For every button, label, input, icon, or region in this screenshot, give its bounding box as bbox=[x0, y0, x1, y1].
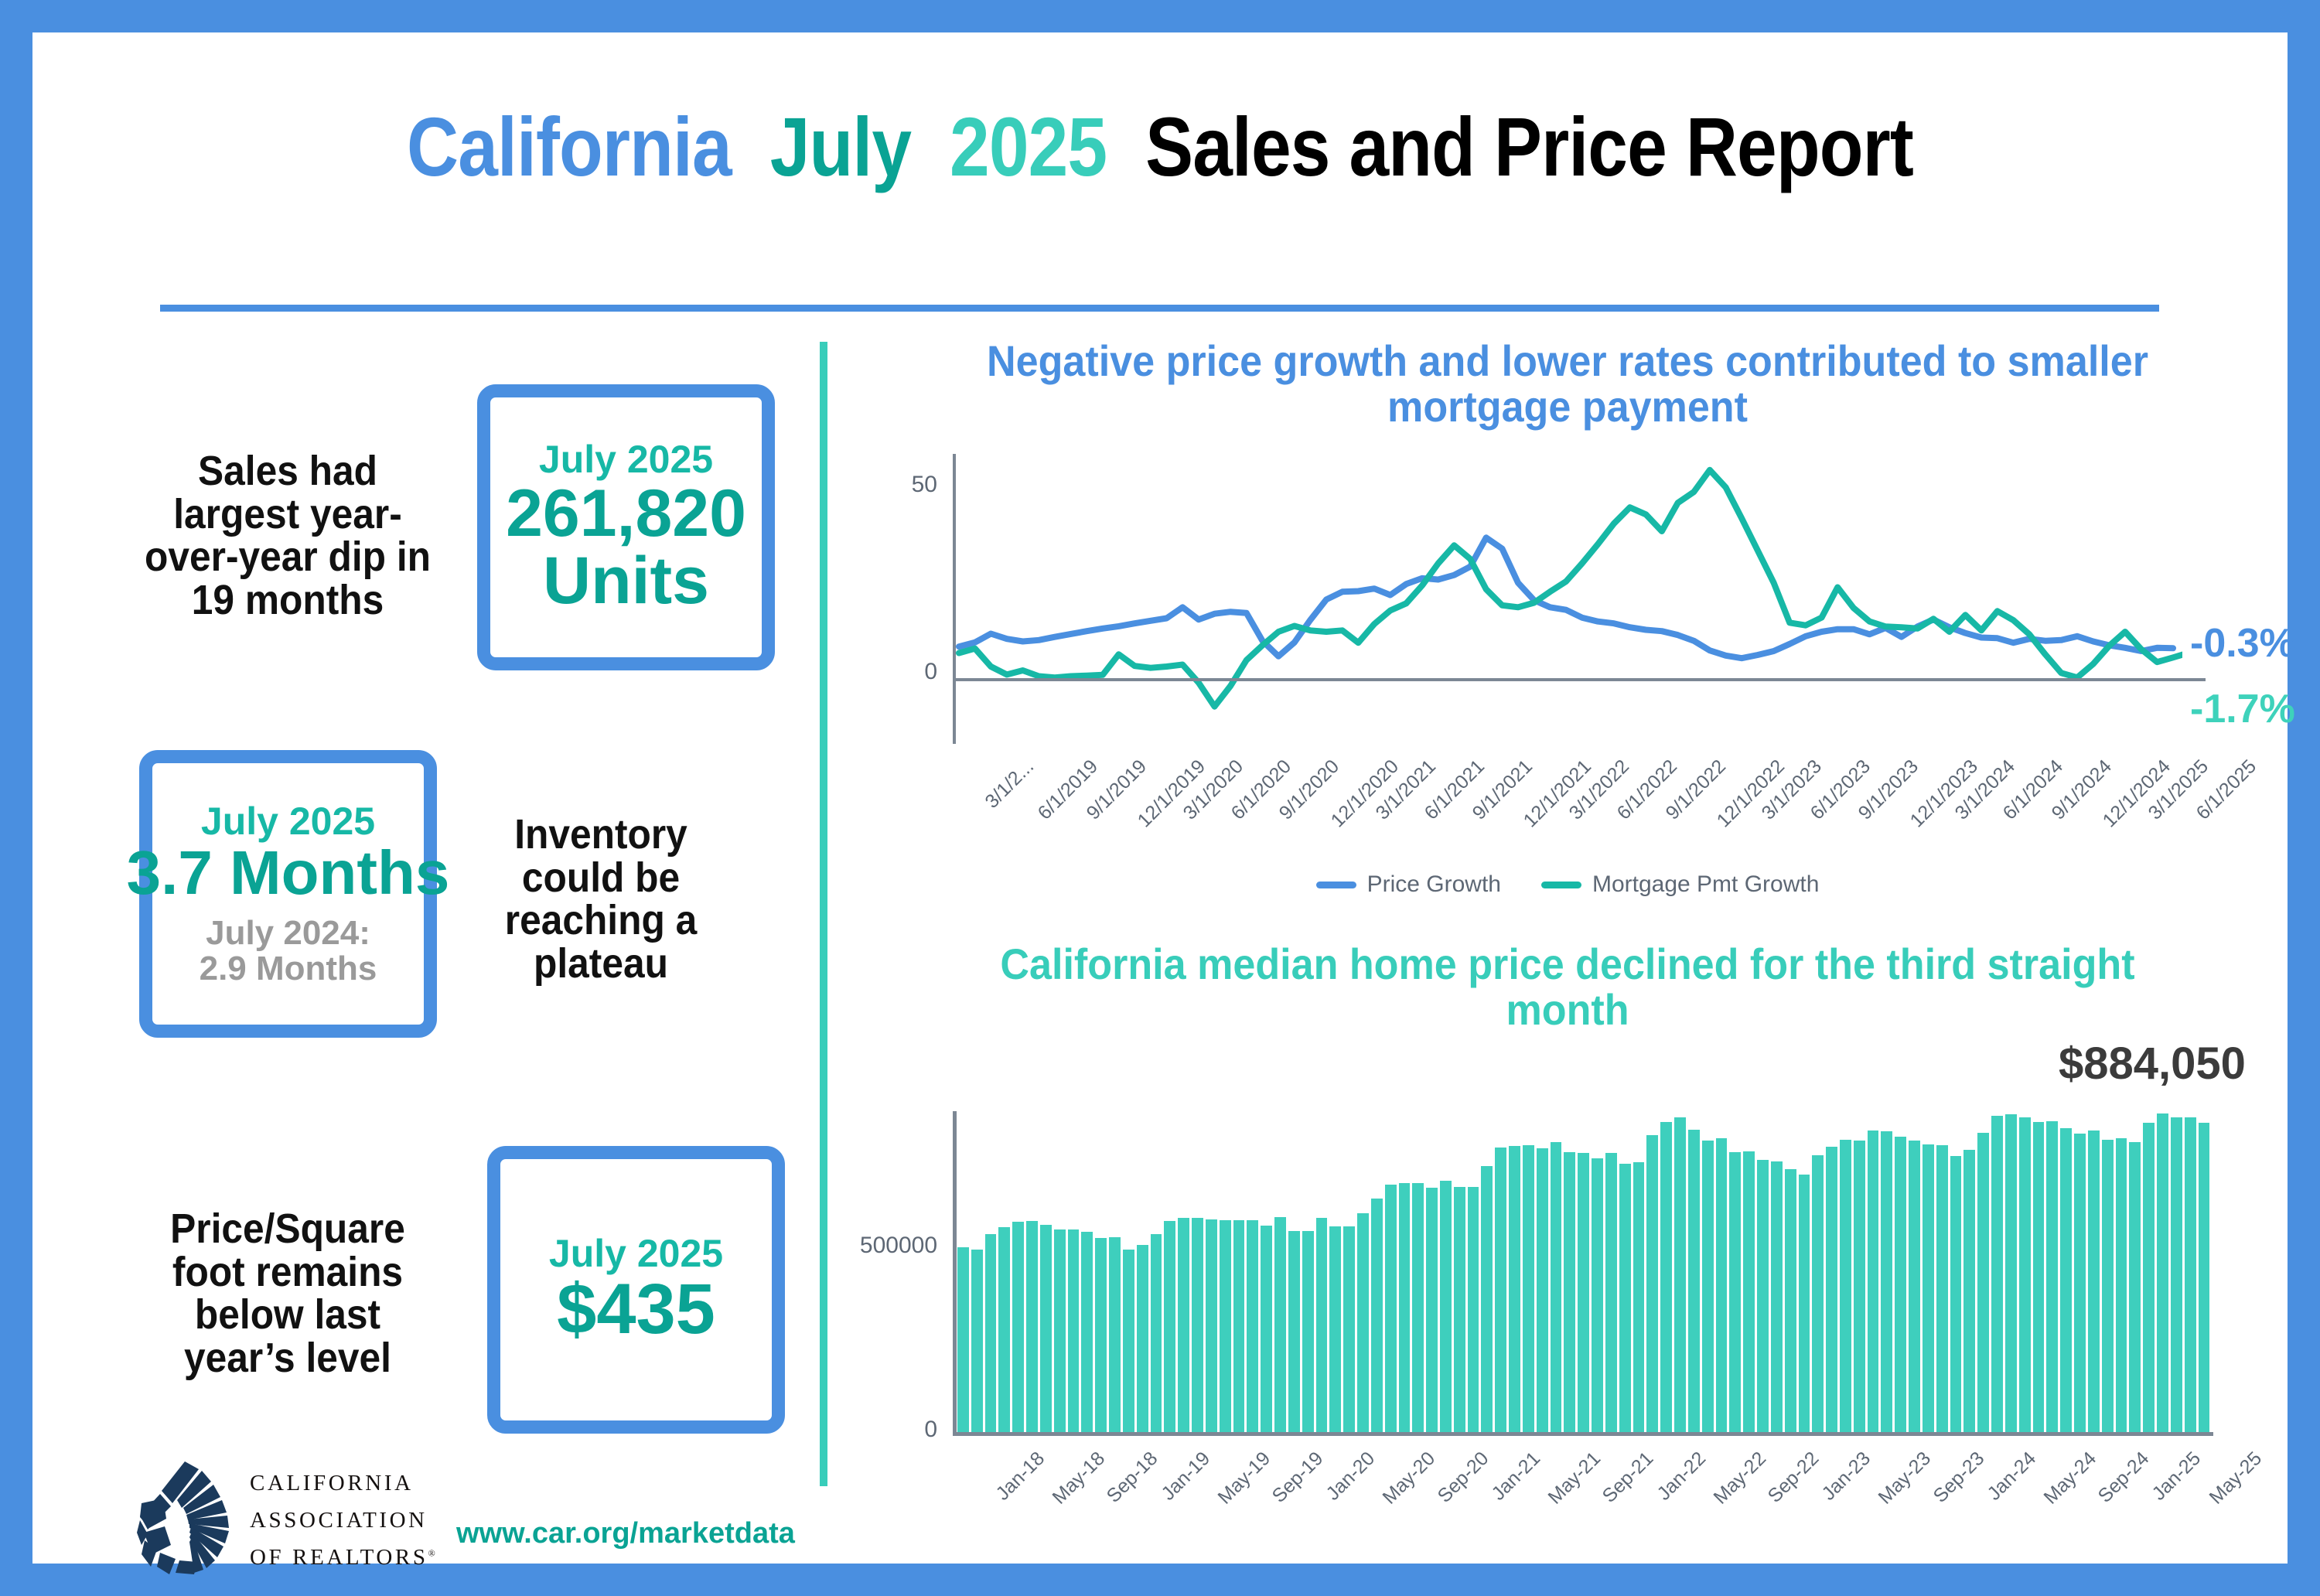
bar-xtick: Sep-24 bbox=[2094, 1448, 2155, 1508]
bar bbox=[1206, 1219, 1217, 1432]
bar bbox=[1633, 1162, 1645, 1432]
bar bbox=[2116, 1138, 2127, 1432]
note-price-per-sqft: Price/Square foot remains below last yea… bbox=[138, 1208, 437, 1379]
bar bbox=[2033, 1122, 2045, 1432]
stat-card-inventory-value: 3.7 Months bbox=[127, 841, 450, 905]
bar-xtick: Jan-25 bbox=[2148, 1448, 2206, 1506]
bar-xtick: May-18 bbox=[1049, 1448, 1110, 1509]
bar bbox=[1426, 1188, 1438, 1432]
note-inventory: Inventory could be reaching a plateau bbox=[462, 813, 740, 985]
bar bbox=[2129, 1142, 2141, 1432]
stat-card-inventory: July 2025 3.7 Months July 2024: 2.9 Mont… bbox=[139, 750, 437, 1038]
bar bbox=[1068, 1229, 1080, 1432]
bar bbox=[1578, 1153, 1589, 1432]
legend-label-price-growth: Price Growth bbox=[1367, 871, 1501, 898]
note-sales: Sales had largest year-over-year dip in … bbox=[138, 450, 437, 622]
bar bbox=[1881, 1131, 1892, 1432]
bar bbox=[2199, 1123, 2210, 1432]
line-chart-zero-line bbox=[953, 678, 2206, 681]
line-ytick-50: 50 bbox=[868, 472, 937, 498]
bar-xtick: May-19 bbox=[1213, 1448, 1274, 1509]
bar bbox=[2046, 1121, 2058, 1432]
car-logo-text: CALIFORNIA ASSOCIATION OF REALTORS® bbox=[250, 1465, 435, 1576]
bar bbox=[1247, 1220, 1258, 1432]
stat-card-price-sqft: July 2025 $435 bbox=[487, 1146, 785, 1434]
bar bbox=[1399, 1183, 1411, 1432]
legend-item-price-growth: Price Growth bbox=[1316, 871, 1501, 898]
bar bbox=[1081, 1232, 1093, 1432]
bar bbox=[1523, 1145, 1534, 1432]
bar-xtick: Sep-21 bbox=[1598, 1448, 1659, 1508]
stat-card-inventory-prior-value: 2.9 Months bbox=[200, 951, 377, 987]
bar-xtick: May-25 bbox=[2205, 1448, 2266, 1509]
bar-xtick: Sep-19 bbox=[1268, 1448, 1329, 1508]
bar bbox=[1385, 1185, 1397, 1432]
legend-swatch-price-growth bbox=[1316, 882, 1356, 888]
bar bbox=[1192, 1218, 1203, 1432]
legend-swatch-mortgage-growth bbox=[1541, 882, 1581, 888]
title-california: California bbox=[407, 100, 732, 193]
bar bbox=[1288, 1231, 1300, 1432]
stat-card-price-sqft-period: July 2025 bbox=[549, 1233, 723, 1274]
bar-xtick: Sep-20 bbox=[1433, 1448, 1493, 1508]
bar bbox=[2060, 1128, 2072, 1432]
line-endlabel-mortgage-growth: -1.7% bbox=[2190, 686, 2295, 732]
bar-xtick: Jan-21 bbox=[1487, 1448, 1545, 1506]
bar-ytick-0: 0 bbox=[852, 1417, 937, 1443]
bar bbox=[1688, 1130, 1700, 1432]
bar-xtick: May-21 bbox=[1544, 1448, 1605, 1509]
title-divider bbox=[160, 305, 2159, 312]
bar bbox=[1812, 1155, 1824, 1432]
bar bbox=[2005, 1114, 2017, 1432]
stat-card-sales-period: July 2025 bbox=[539, 439, 713, 480]
stat-card-inventory-prior-label: July 2024: bbox=[206, 916, 370, 951]
bar bbox=[2088, 1130, 2100, 1432]
bar-xtick: Jan-24 bbox=[1983, 1448, 2041, 1506]
bar bbox=[2185, 1117, 2196, 1432]
bar bbox=[1702, 1141, 1714, 1432]
bar-xtick: Jan-20 bbox=[1322, 1448, 1380, 1506]
poster-frame: California July 2025 Sales and Price Rep… bbox=[32, 32, 2288, 1564]
bar bbox=[1468, 1187, 1479, 1432]
bar-chart-yaxis-line bbox=[953, 1111, 957, 1436]
page-title: California July 2025 Sales and Price Rep… bbox=[190, 98, 2130, 195]
bar bbox=[1481, 1166, 1493, 1432]
bar bbox=[1660, 1122, 1672, 1432]
bar bbox=[1895, 1137, 1906, 1432]
line-chart-plot bbox=[953, 454, 2182, 744]
stat-card-inventory-period: July 2025 bbox=[201, 801, 375, 842]
bar bbox=[1343, 1226, 1355, 1432]
bar bbox=[2157, 1113, 2168, 1432]
bar bbox=[1012, 1222, 1024, 1432]
car-logo-line-1: CALIFORNIA bbox=[250, 1465, 435, 1502]
bar-xtick: Sep-23 bbox=[1929, 1448, 1989, 1508]
stat-card-sales-unit: Units bbox=[543, 547, 709, 616]
california-fan-icon bbox=[137, 1458, 237, 1574]
stat-card-sales: July 2025 261,820 Units bbox=[477, 384, 775, 670]
bar bbox=[1757, 1160, 1769, 1432]
stat-card-sales-value: 261,820 bbox=[506, 480, 746, 548]
bar bbox=[1220, 1220, 1231, 1432]
bar bbox=[2171, 1117, 2182, 1432]
line-endlabel-price-growth: -0.3% bbox=[2190, 620, 2295, 667]
bar bbox=[957, 1247, 969, 1432]
bar-chart-xaxis-line bbox=[953, 1432, 2213, 1436]
bar-xtick: May-23 bbox=[1875, 1448, 1936, 1509]
bar bbox=[1274, 1217, 1286, 1432]
bar bbox=[1261, 1226, 1272, 1432]
line-xtick: 3/1/2... bbox=[981, 755, 1039, 813]
bar bbox=[1592, 1158, 1603, 1432]
bar bbox=[1316, 1218, 1328, 1432]
title-subject: Sales and Price Report bbox=[1145, 100, 1913, 193]
bar bbox=[1909, 1141, 1920, 1432]
bar bbox=[1109, 1237, 1121, 1432]
bar bbox=[1302, 1231, 1314, 1432]
bar bbox=[1054, 1229, 1066, 1432]
bar bbox=[1950, 1156, 1962, 1432]
bar bbox=[1771, 1161, 1783, 1432]
car-url-link[interactable]: www.car.org/marketdata bbox=[456, 1517, 795, 1550]
line-ytick-0: 0 bbox=[868, 659, 937, 685]
bar bbox=[1178, 1218, 1189, 1432]
bar-xtick: May-20 bbox=[1379, 1448, 1440, 1509]
bar-chart-plot bbox=[957, 1100, 2210, 1432]
bar bbox=[2102, 1140, 2114, 1432]
bar bbox=[1868, 1130, 1879, 1432]
bar bbox=[998, 1227, 1010, 1432]
bar bbox=[1605, 1153, 1617, 1432]
bar bbox=[2143, 1123, 2155, 1432]
bar-xtick: Jan-18 bbox=[991, 1448, 1049, 1506]
car-logo: CALIFORNIA ASSOCIATION OF REALTORS® bbox=[137, 1455, 469, 1579]
bar bbox=[1799, 1175, 1810, 1432]
stat-card-price-sqft-value: $435 bbox=[557, 1274, 715, 1346]
bar-chart-title: California median home price declined fo… bbox=[946, 941, 2190, 1033]
bar bbox=[1564, 1152, 1575, 1432]
bar bbox=[1743, 1151, 1755, 1432]
legend-item-mortgage-growth: Mortgage Pmt Growth bbox=[1541, 871, 1819, 898]
title-year: 2025 bbox=[950, 100, 1107, 193]
bar bbox=[1923, 1144, 1934, 1432]
bar bbox=[1357, 1213, 1369, 1432]
bar bbox=[1551, 1142, 1562, 1432]
bar bbox=[1716, 1138, 1728, 1432]
bar-xtick: May-24 bbox=[2039, 1448, 2100, 1509]
bar bbox=[1095, 1238, 1107, 1432]
bar-chart-annotation: $884,050 bbox=[2059, 1038, 2246, 1090]
title-month: July bbox=[770, 100, 911, 193]
section-divider bbox=[820, 342, 827, 1486]
line-chart-legend: Price Growth Mortgage Pmt Growth bbox=[953, 871, 2182, 898]
bar bbox=[1233, 1220, 1245, 1432]
bar bbox=[1840, 1140, 1851, 1432]
bar bbox=[1371, 1199, 1383, 1432]
bar bbox=[1537, 1148, 1548, 1432]
bar bbox=[1963, 1150, 1975, 1432]
car-logo-line-3: OF REALTORS bbox=[250, 1545, 428, 1570]
bar bbox=[1123, 1250, 1134, 1432]
bar bbox=[1454, 1187, 1465, 1432]
bar bbox=[1936, 1145, 1948, 1432]
bar bbox=[1991, 1116, 2003, 1432]
bar-xtick: Jan-19 bbox=[1157, 1448, 1215, 1506]
bar bbox=[1440, 1181, 1452, 1432]
bar-xtick: Jan-22 bbox=[1653, 1448, 1711, 1506]
bar bbox=[1137, 1245, 1148, 1432]
line-series-1 bbox=[959, 470, 2182, 707]
legend-label-mortgage-growth: Mortgage Pmt Growth bbox=[1592, 871, 1819, 898]
bar bbox=[1509, 1146, 1520, 1432]
bar bbox=[2019, 1117, 2031, 1432]
bar bbox=[971, 1250, 983, 1432]
bar bbox=[1026, 1221, 1038, 1432]
bar bbox=[985, 1234, 997, 1432]
bar bbox=[1826, 1147, 1837, 1432]
bar bbox=[1619, 1164, 1631, 1432]
line-series-0 bbox=[959, 537, 2173, 658]
bar bbox=[1040, 1225, 1052, 1432]
bar-xtick: Jan-23 bbox=[1818, 1448, 1876, 1506]
bar bbox=[1164, 1221, 1175, 1432]
car-logo-line-2: ASSOCIATION bbox=[250, 1502, 435, 1539]
bar-ytick-500000: 500000 bbox=[821, 1233, 937, 1259]
bar-xtick: May-22 bbox=[1709, 1448, 1770, 1509]
bar bbox=[1729, 1152, 1741, 1432]
bar bbox=[1329, 1226, 1341, 1432]
line-chart-title: Negative price growth and lower rates co… bbox=[924, 338, 2212, 430]
bar bbox=[1151, 1234, 1162, 1432]
bar bbox=[1854, 1141, 1865, 1432]
bar bbox=[1674, 1117, 1686, 1432]
bar bbox=[1495, 1148, 1506, 1432]
bar bbox=[1785, 1169, 1796, 1432]
bar bbox=[1977, 1133, 1989, 1432]
registered-mark: ® bbox=[428, 1548, 435, 1559]
bar-xtick: Sep-18 bbox=[1103, 1448, 1163, 1508]
bar bbox=[2074, 1134, 2086, 1432]
bar-xtick: Sep-22 bbox=[1764, 1448, 1824, 1508]
bar bbox=[1412, 1183, 1424, 1432]
bar bbox=[1646, 1135, 1658, 1432]
